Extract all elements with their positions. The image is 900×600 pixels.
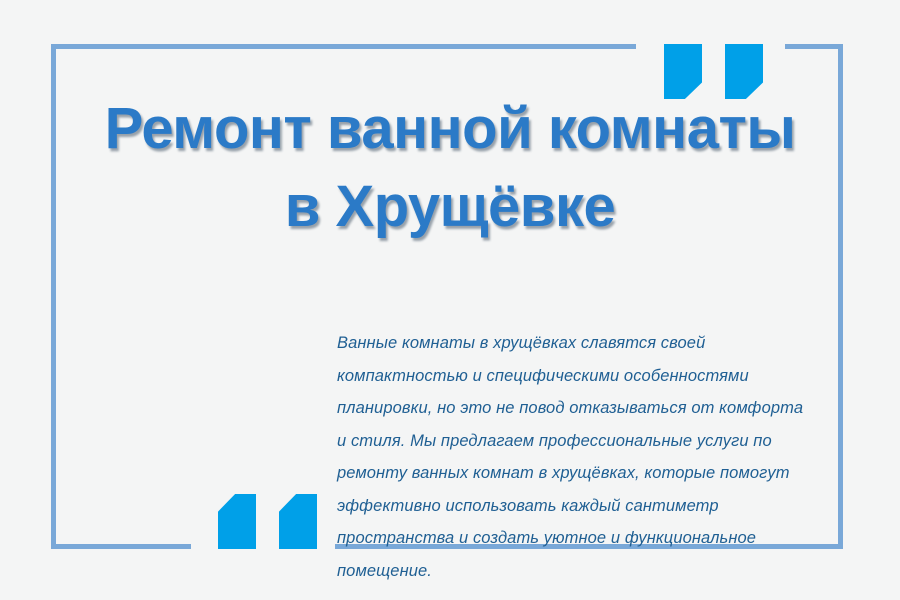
frame-bottom-left-segment xyxy=(51,544,191,549)
frame-top-left-segment xyxy=(51,44,636,49)
opening-quote-decoration xyxy=(218,494,317,549)
frame-top-right-segment xyxy=(785,44,843,49)
promo-banner: Ремонт ванной комнаты в Хрущёвке Ванные … xyxy=(0,0,900,600)
body-paragraph: Ванные комнаты в хрущёвках славятся свое… xyxy=(337,327,805,587)
page-title: Ремонт ванной комнаты в Хрущёвке xyxy=(60,90,840,246)
frame-left-edge xyxy=(51,44,56,549)
opening-quote-icon xyxy=(218,494,256,549)
opening-quote-icon xyxy=(279,494,317,549)
